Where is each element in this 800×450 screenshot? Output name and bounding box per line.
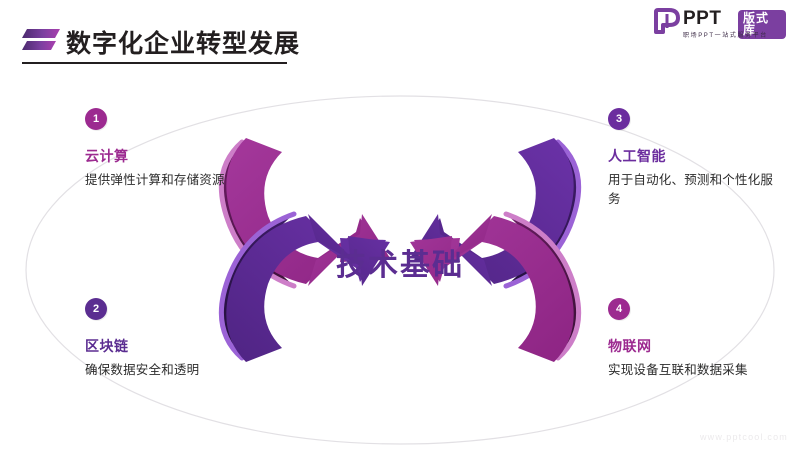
title-underline — [22, 62, 287, 64]
logo-wordmark: PPT — [683, 8, 721, 30]
item-title: 物联网 — [608, 336, 783, 356]
p-letter-logo-icon — [654, 8, 680, 34]
center-label: 技术基础 — [300, 240, 500, 284]
item-title: 人工智能 — [608, 146, 783, 166]
status-badge: 1 — [85, 108, 107, 130]
list-item[interactable]: 3 人工智能 用于自动化、预测和个性化服务 — [608, 108, 783, 210]
item-description: 用于自动化、预测和个性化服务 — [608, 171, 783, 210]
status-badge: 2 — [85, 298, 107, 320]
double-slant-bars-icon — [22, 27, 60, 53]
brand-logo[interactable]: PPT 版式库 职场PPT一站式服务平台 — [654, 7, 786, 41]
item-description: 实现设备互联和数据采集 — [608, 361, 783, 380]
logo-subtitle: 职场PPT一站式服务平台 — [683, 30, 768, 39]
list-item[interactable]: 4 物联网 实现设备互联和数据采集 — [608, 298, 783, 380]
status-badge: 3 — [608, 108, 630, 130]
list-item[interactable]: 1 云计算 提供弹性计算和存储资源 — [85, 108, 260, 190]
page-title: 数字化企业转型发展 — [66, 24, 300, 60]
status-badge: 4 — [608, 298, 630, 320]
item-title: 区块链 — [85, 336, 260, 356]
item-description: 确保数据安全和透明 — [85, 361, 260, 380]
slide-canvas: 数字化企业转型发展 PPT 版式库 职场PPT一站式服务平台 — [0, 0, 800, 450]
item-title: 云计算 — [85, 146, 260, 166]
list-item[interactable]: 2 区块链 确保数据安全和透明 — [85, 298, 260, 380]
item-description: 提供弹性计算和存储资源 — [85, 171, 260, 190]
watermark: www.pptcool.com — [700, 432, 788, 442]
